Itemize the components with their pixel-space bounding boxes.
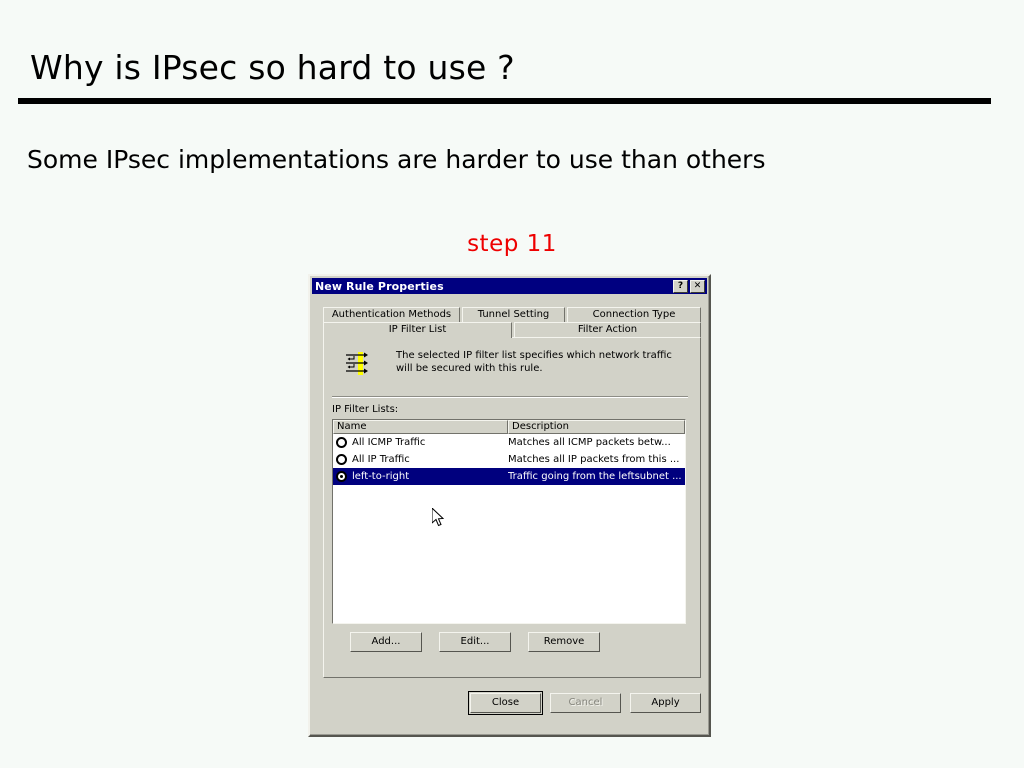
ip-filter-lists-listbox[interactable]: Name Description All ICMP Traffic Matche… (332, 419, 686, 624)
tab-connection-type[interactable]: Connection Type (567, 307, 701, 322)
row-name-cell: All ICMP Traffic (336, 437, 508, 448)
dialog-footer: Close Cancel Apply (323, 688, 701, 718)
close-button[interactable]: Close (470, 693, 541, 713)
title-divider (18, 98, 991, 104)
column-header-name[interactable]: Name (333, 420, 508, 434)
row-name-cell: All IP Traffic (336, 454, 508, 465)
slide-subtitle: Some IPsec implementations are harder to… (27, 145, 766, 174)
row-description-cell: Traffic going from the leftsubnet ... (508, 471, 685, 482)
help-icon[interactable]: ? (673, 280, 688, 293)
tab-ip-filter-list[interactable]: IP Filter List (323, 322, 512, 338)
add-button[interactable]: Add... (350, 632, 422, 652)
row-name-label: left-to-right (352, 471, 409, 482)
column-header-description[interactable]: Description (508, 420, 685, 434)
ip-filter-lists-label: IP Filter Lists: (332, 404, 398, 415)
radio-button-icon[interactable] (336, 437, 347, 448)
ip-filter-icon (345, 351, 369, 377)
table-row[interactable]: All ICMP Traffic Matches all ICMP packet… (333, 434, 685, 451)
tab-label: IP Filter List (389, 324, 447, 335)
tab-filter-action[interactable]: Filter Action (514, 322, 701, 338)
step-label: step 11 (0, 231, 1024, 257)
dialog-titlebar[interactable]: New Rule Properties ? ✕ (312, 278, 707, 294)
panel-header: The selected IP filter list specifies wh… (334, 349, 690, 377)
tab-label: Filter Action (578, 324, 637, 335)
remove-button[interactable]: Remove (528, 632, 600, 652)
radio-button-selected-icon[interactable] (336, 471, 347, 482)
row-name-cell: left-to-right (336, 471, 508, 482)
tab-label: Tunnel Setting (478, 309, 550, 320)
row-name-label: All ICMP Traffic (352, 437, 425, 448)
cancel-button: Cancel (550, 693, 621, 713)
listview-header: Name Description (333, 420, 685, 434)
panel-description: The selected IP filter list specifies wh… (396, 349, 676, 375)
table-row-selected[interactable]: left-to-right Traffic going from the lef… (333, 468, 685, 485)
edit-button[interactable]: Edit... (439, 632, 511, 652)
new-rule-properties-dialog: New Rule Properties ? ✕ Authentication M… (308, 274, 711, 737)
page-title: Why is IPsec so hard to use ? (30, 48, 515, 87)
row-name-label: All IP Traffic (352, 454, 410, 465)
table-row[interactable]: All IP Traffic Matches all IP packets fr… (333, 451, 685, 468)
dialog-title: New Rule Properties (312, 280, 444, 293)
ip-filter-list-panel: The selected IP filter list specifies wh… (323, 337, 701, 678)
tab-tunnel-setting[interactable]: Tunnel Setting (462, 307, 565, 322)
row-description-cell: Matches all ICMP packets betw... (508, 437, 685, 448)
close-icon[interactable]: ✕ (690, 280, 705, 293)
radio-button-icon[interactable] (336, 454, 347, 465)
tab-label: Authentication Methods (332, 309, 451, 320)
tab-strip: Authentication Methods Tunnel Setting Co… (323, 307, 701, 337)
tab-authentication-methods[interactable]: Authentication Methods (323, 307, 460, 322)
row-description-cell: Matches all IP packets from this ... (508, 454, 685, 465)
tab-label: Connection Type (593, 309, 676, 320)
panel-separator (332, 396, 688, 398)
list-action-buttons: Add... Edit... Remove (350, 632, 600, 652)
titlebar-button-group: ? ✕ (673, 280, 707, 293)
apply-button[interactable]: Apply (630, 693, 701, 713)
